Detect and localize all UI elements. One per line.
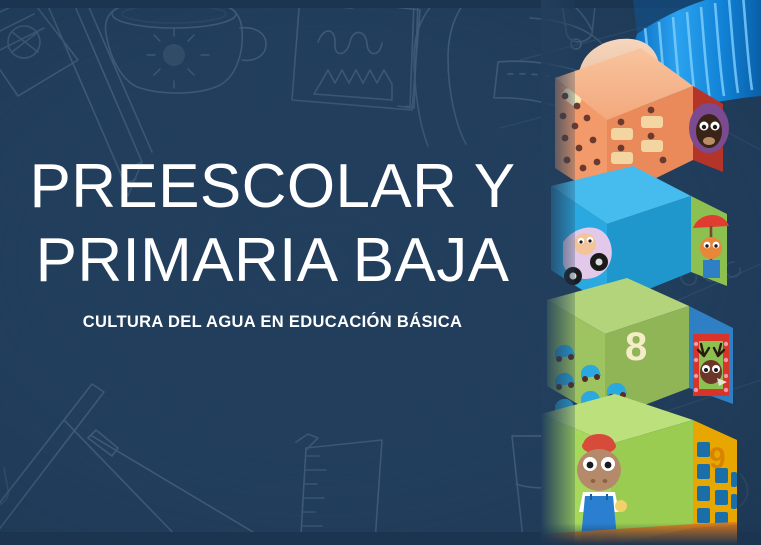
title-line-2: PRIMARIA BAJA bbox=[0, 224, 545, 298]
deer-portrait bbox=[693, 334, 729, 396]
slide-subtitle: CULTURA DEL AGUA EN EDUCACIÓN BÁSICA bbox=[0, 313, 545, 332]
toy-blocks-photo: 8 bbox=[541, 0, 761, 545]
title-line-1: PREESCOLAR Y bbox=[0, 150, 545, 224]
presentation-slide: 8 bbox=[0, 0, 761, 545]
bear-face-medallion bbox=[689, 103, 729, 153]
slide-title: PREESCOLAR Y PRIMARIA BAJA bbox=[0, 150, 545, 298]
block-number-8: 8 bbox=[625, 325, 647, 369]
